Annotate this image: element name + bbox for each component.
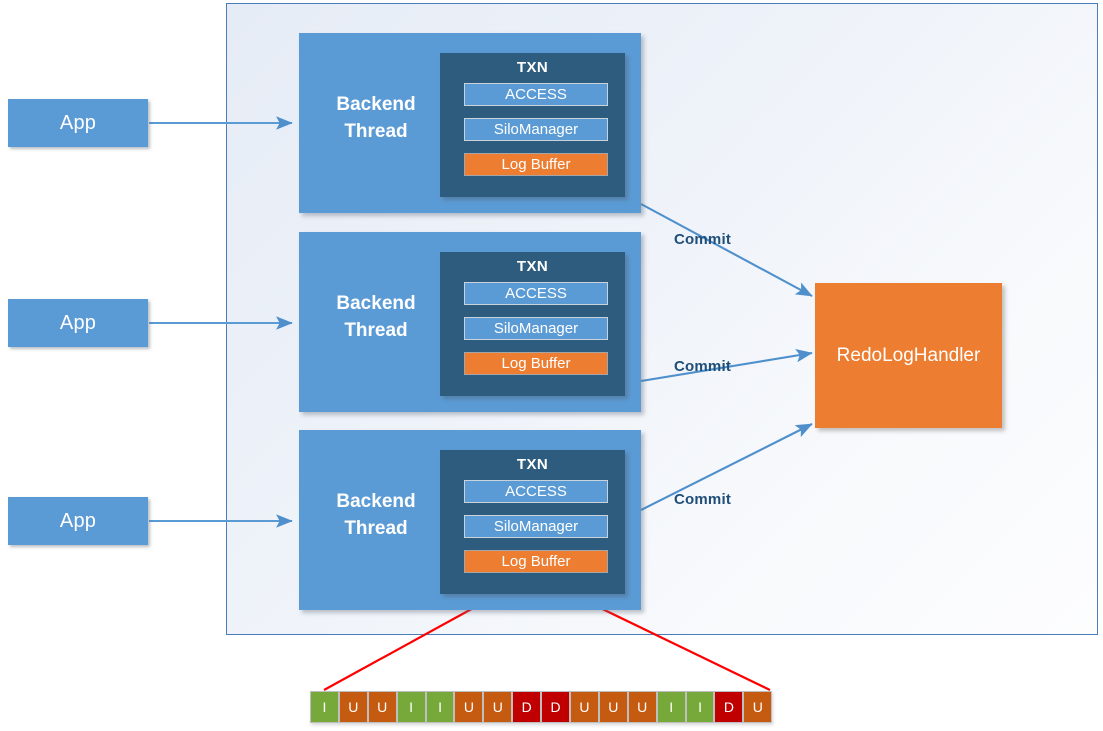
backend-thread-label-line1: Backend (311, 91, 441, 118)
app-label: App (60, 510, 96, 533)
log-record-cell: I (310, 691, 339, 723)
backend-thread-block-1[interactable]: Backend Thread TXN ACCESS SiloManager Lo… (299, 33, 641, 213)
txn-row-access[interactable]: ACCESS (464, 282, 608, 305)
commit-label-1: Commit (674, 231, 731, 248)
redo-log-handler-box[interactable]: RedoLogHandler (815, 283, 1002, 428)
log-record-cell: U (483, 691, 512, 723)
txn-panel[interactable]: TXN ACCESS SiloManager Log Buffer (440, 53, 625, 197)
app-label: App (60, 312, 96, 335)
log-record-cell: U (454, 691, 483, 723)
log-record-cell: U (570, 691, 599, 723)
txn-row-silomanager[interactable]: SiloManager (464, 515, 608, 538)
log-record-cell: D (512, 691, 541, 723)
txn-row-access[interactable]: ACCESS (464, 480, 608, 503)
redo-log-handler-label: RedoLogHandler (837, 345, 981, 367)
backend-thread-label-line2: Thread (311, 118, 441, 145)
backend-thread-label: Backend Thread (311, 91, 441, 145)
diagram-canvas: App App App Backend Thread TXN ACCESS Si… (0, 0, 1103, 731)
txn-row-log-buffer[interactable]: Log Buffer (464, 550, 608, 573)
backend-thread-label-line1: Backend (311, 488, 441, 515)
app-box-1[interactable]: App (8, 99, 148, 147)
txn-row-log-buffer[interactable]: Log Buffer (464, 153, 608, 176)
log-record-cell: U (743, 691, 772, 723)
log-record-cell: I (426, 691, 455, 723)
log-record-cell: U (599, 691, 628, 723)
backend-thread-label-line2: Thread (311, 515, 441, 542)
txn-title: TXN (440, 59, 625, 76)
txn-panel[interactable]: TXN ACCESS SiloManager Log Buffer (440, 252, 625, 396)
backend-thread-block-2[interactable]: Backend Thread TXN ACCESS SiloManager Lo… (299, 232, 641, 412)
backend-thread-label: Backend Thread (311, 488, 441, 542)
backend-thread-label: Backend Thread (311, 290, 441, 344)
txn-row-access[interactable]: ACCESS (464, 83, 608, 106)
txn-row-silomanager[interactable]: SiloManager (464, 317, 608, 340)
log-record-cell: I (686, 691, 715, 723)
log-record-sequence: IUUIIUUDDUUUIIDU (310, 691, 772, 723)
app-label: App (60, 112, 96, 135)
backend-thread-label-line1: Backend (311, 290, 441, 317)
txn-row-silomanager[interactable]: SiloManager (464, 118, 608, 141)
log-record-cell: U (368, 691, 397, 723)
backend-thread-label-line2: Thread (311, 317, 441, 344)
log-record-cell: U (628, 691, 657, 723)
commit-label-3: Commit (674, 491, 731, 508)
txn-row-log-buffer[interactable]: Log Buffer (464, 352, 608, 375)
commit-label-2: Commit (674, 358, 731, 375)
txn-title: TXN (440, 456, 625, 473)
txn-title: TXN (440, 258, 625, 275)
app-box-3[interactable]: App (8, 497, 148, 545)
backend-thread-block-3[interactable]: Backend Thread TXN ACCESS SiloManager Lo… (299, 430, 641, 610)
app-box-2[interactable]: App (8, 299, 148, 347)
log-record-cell: I (397, 691, 426, 723)
log-record-cell: I (657, 691, 686, 723)
log-record-cell: U (339, 691, 368, 723)
log-record-cell: D (714, 691, 743, 723)
log-record-cell: D (541, 691, 570, 723)
txn-panel[interactable]: TXN ACCESS SiloManager Log Buffer (440, 450, 625, 594)
